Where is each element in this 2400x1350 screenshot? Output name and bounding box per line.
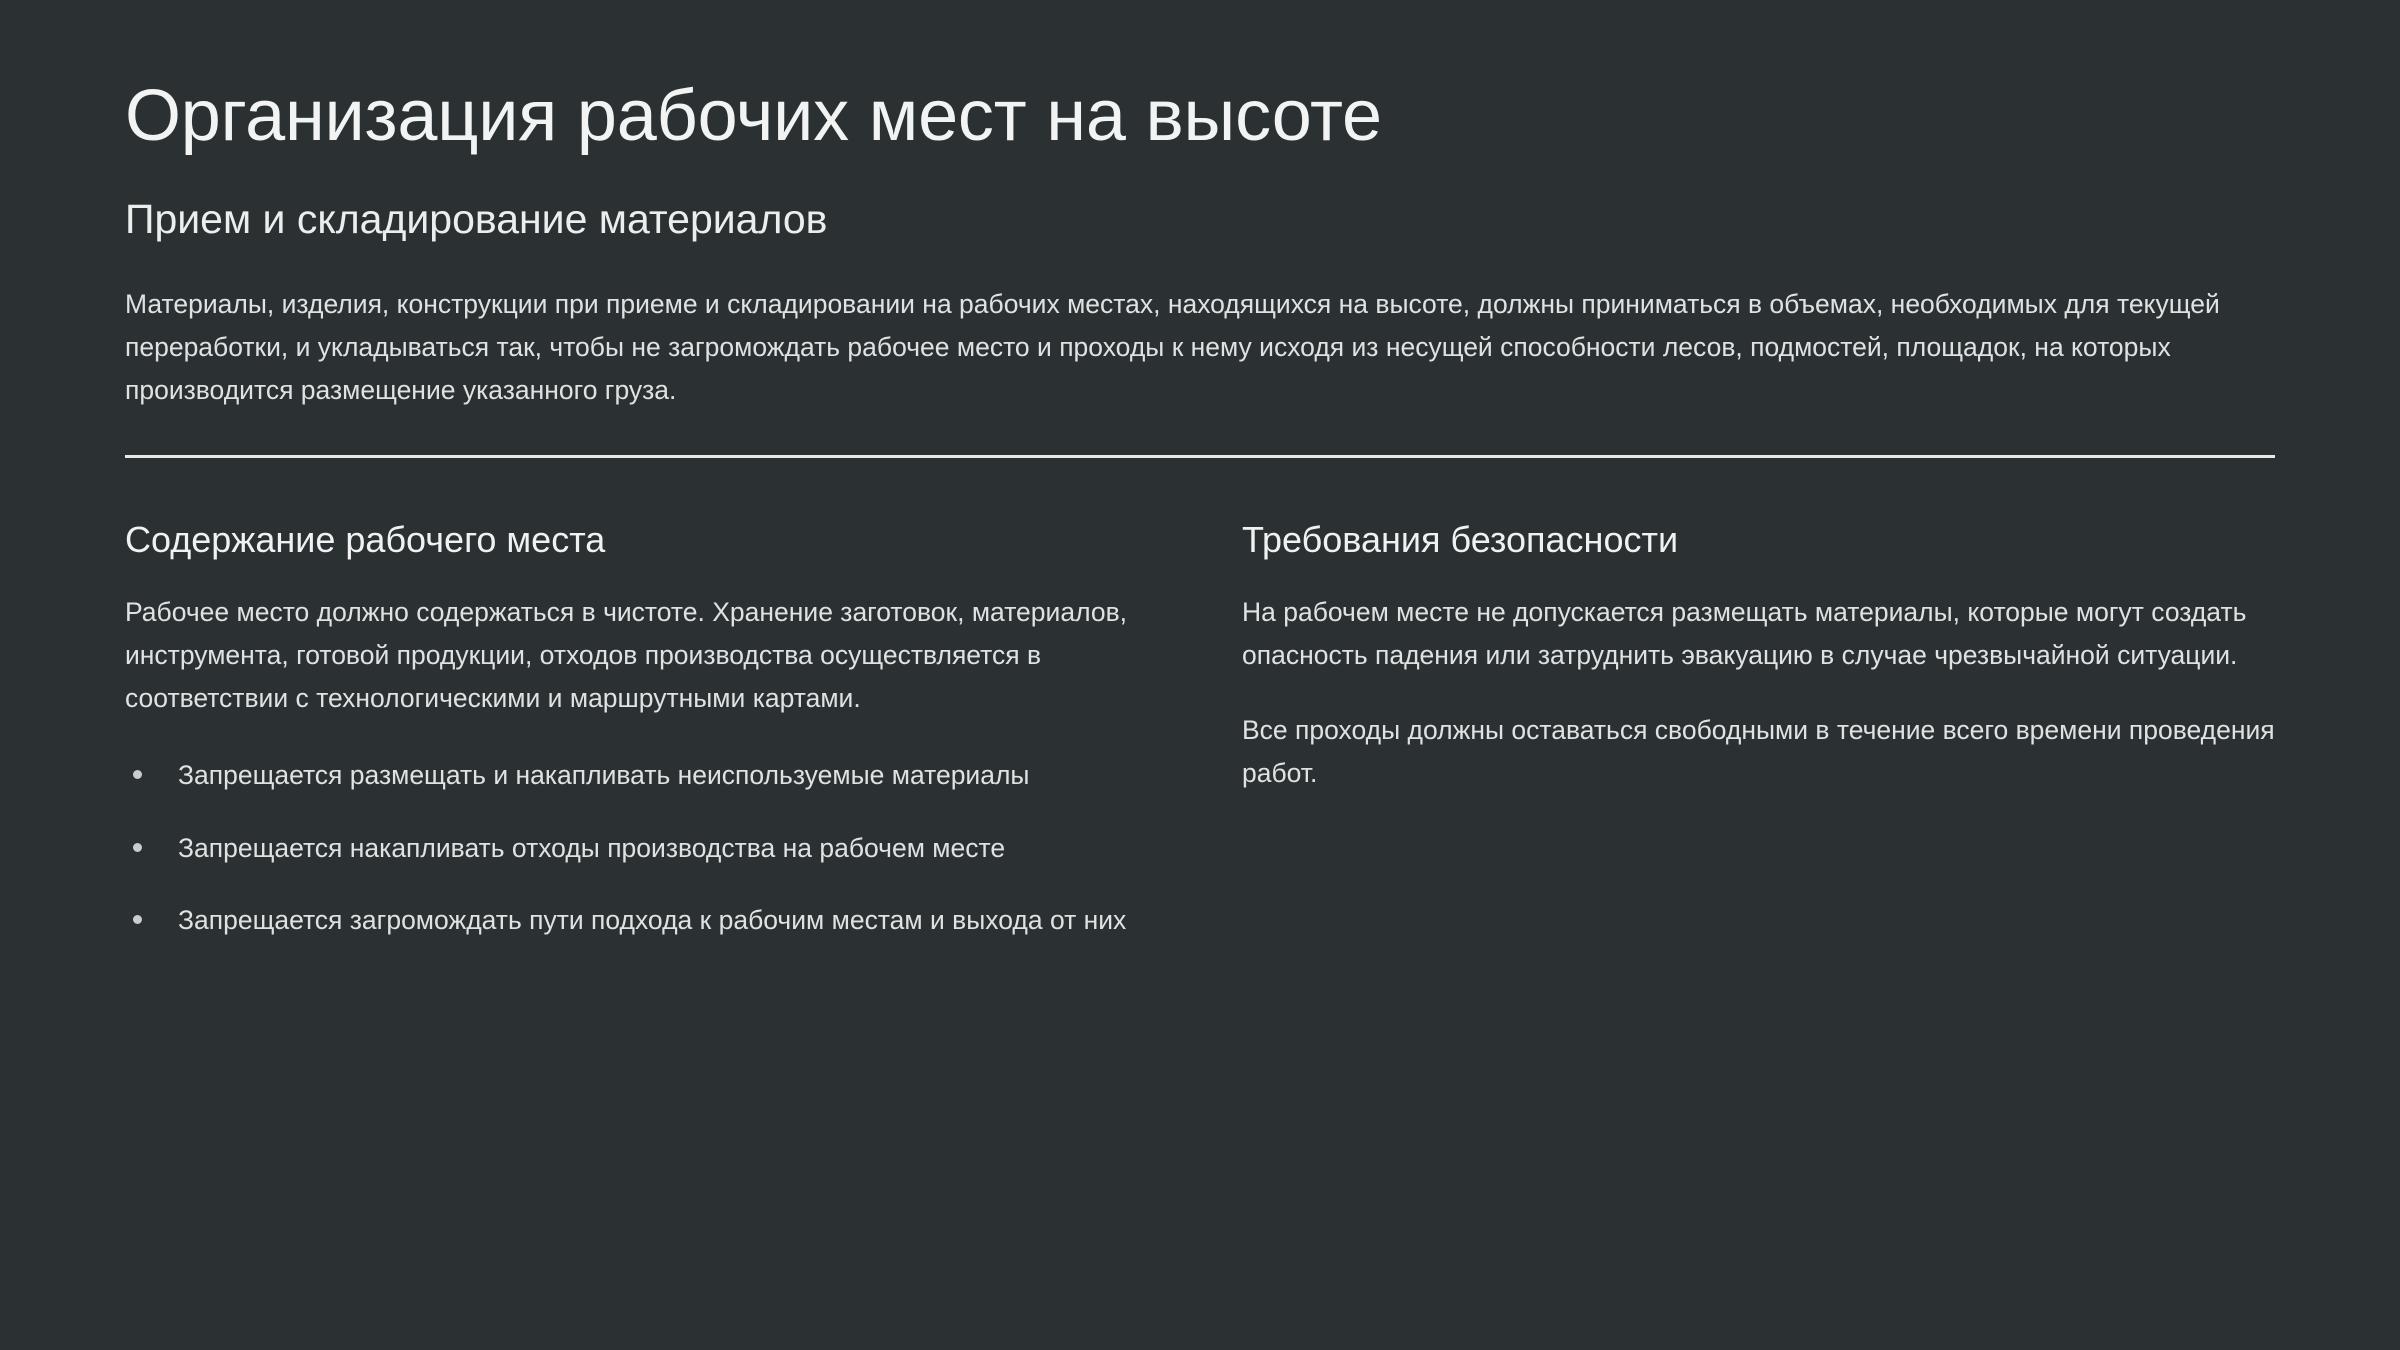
requirements-bullet-list: Запрещается размещать и накапливать неис… <box>125 720 1165 943</box>
list-item: Запрещается загромождать пути подхода к … <box>125 899 1165 942</box>
page-title: Организация рабочих мест на высоте <box>125 0 2275 156</box>
list-item-label: Запрещается размещать и накапливать неис… <box>178 760 1029 790</box>
list-item: Запрещается размещать и накапливать неис… <box>125 754 1165 797</box>
column-heading-safety-requirements: Требования безопасности <box>1242 518 2282 561</box>
bullet-dot-icon <box>133 770 142 779</box>
two-column-layout: Содержание рабочего места Рабочее место … <box>125 458 2275 943</box>
list-item-label: Запрещается загромождать пути подхода к … <box>178 905 1126 935</box>
slide-root: Организация рабочих мест на высоте Прием… <box>0 0 2400 1350</box>
list-item-label: Запрещается накапливать отходы производс… <box>178 833 1005 863</box>
column-paragraph: Все проходы должны оставаться свободными… <box>1242 677 2282 795</box>
list-item: Запрещается накапливать отходы производс… <box>125 827 1165 870</box>
column-paragraph: Рабочее место должно содержаться в чисто… <box>125 561 1165 720</box>
bullet-dot-icon <box>133 843 142 852</box>
column-safety-requirements: Требования безопасности На рабочем месте… <box>1242 518 2282 943</box>
intro-paragraph: Материалы, изделия, конструкции при прие… <box>125 243 2275 412</box>
column-workplace-upkeep: Содержание рабочего места Рабочее место … <box>125 518 1165 943</box>
slide-subtitle: Прием и складирование материалов <box>125 156 2275 243</box>
column-paragraph: На рабочем месте не допускается размещат… <box>1242 561 2282 677</box>
bullet-dot-icon <box>133 915 142 924</box>
column-heading-workplace-upkeep: Содержание рабочего места <box>125 518 1165 561</box>
